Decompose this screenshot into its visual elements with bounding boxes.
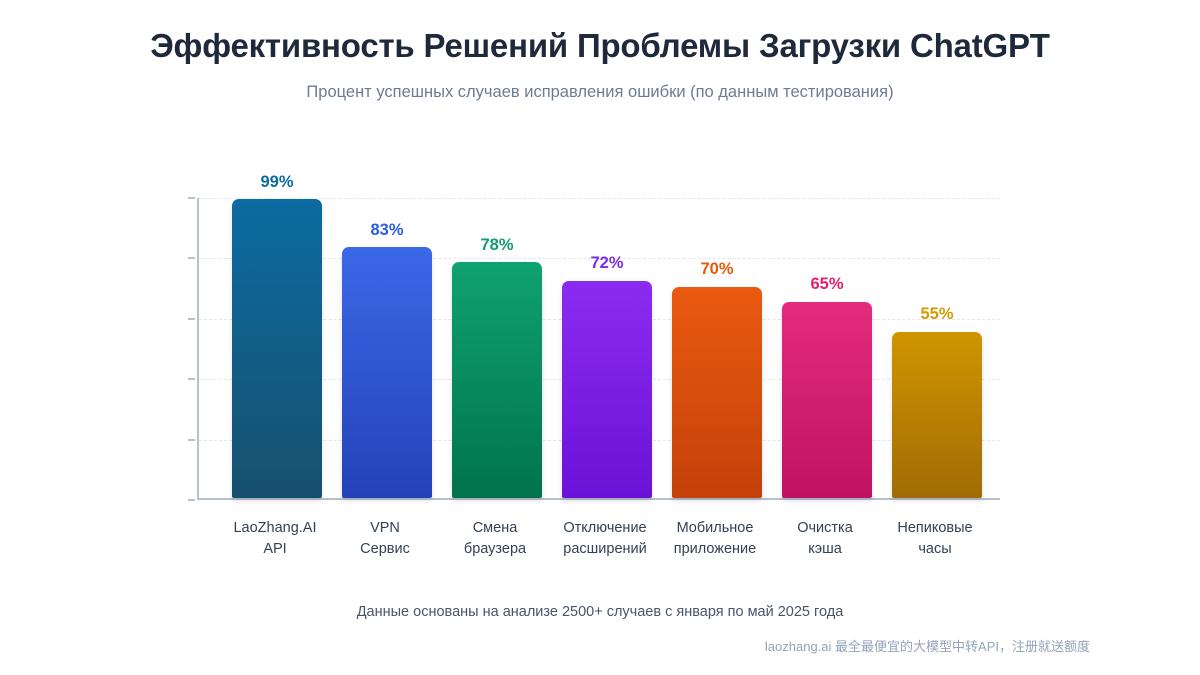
y-axis-tick-mark	[188, 439, 195, 441]
y-axis-tick-mark	[188, 257, 195, 259]
bar-slot: 70%	[672, 196, 762, 498]
x-axis-label-line: Непиковые	[890, 518, 980, 539]
bar-value-label: 65%	[810, 276, 843, 293]
x-axis-label-line: VPN	[340, 518, 430, 539]
watermark: laozhang.ai 最全最便宜的大模型中转API，注册就送额度	[765, 636, 1090, 655]
chart-subtitle: Процент успешных случаев исправления оши…	[0, 82, 1200, 103]
x-axis-label: VPNСервис	[340, 518, 430, 560]
bar[interactable]: 55%	[892, 332, 982, 498]
x-axis-label-line: Смена	[450, 518, 540, 539]
chart-plot-wrapper: 99%83%78%72%70%65%55% 100%80%60%40%20%0%…	[0, 150, 1200, 570]
bar[interactable]: 70%	[672, 287, 762, 498]
plot-area: 99%83%78%72%70%65%55%	[197, 198, 1000, 500]
x-axis-label-line: приложение	[670, 539, 760, 560]
bar[interactable]: 83%	[342, 247, 432, 498]
bar[interactable]: 99%	[232, 199, 322, 498]
y-axis-tick-mark	[188, 499, 195, 501]
bar-slot: 99%	[232, 196, 322, 498]
x-axis-label: Отключениерасширений	[560, 518, 650, 560]
y-axis-tick-mark	[188, 197, 195, 199]
bar[interactable]: 72%	[562, 281, 652, 498]
bar-value-label: 83%	[370, 222, 403, 239]
y-axis-tick-mark	[188, 318, 195, 320]
page-title: Эффективность Решений Проблемы Загрузки …	[0, 26, 1200, 66]
footnote: Данные основаны на анализе 2500+ случаев…	[0, 604, 1200, 620]
bar-series: 99%83%78%72%70%65%55%	[232, 196, 984, 498]
bar[interactable]: 65%	[782, 302, 872, 498]
x-axis-label-line: браузера	[450, 539, 540, 560]
bar-value-label: 78%	[480, 237, 513, 254]
x-axis-label-line: Отключение	[560, 518, 650, 539]
chart-page: Эффективность Решений Проблемы Загрузки …	[0, 0, 1200, 675]
x-axis-labels: LaoZhang.AIAPIVPNСервисСменабраузераОткл…	[230, 518, 982, 560]
x-axis-label: LaoZhang.AIAPI	[230, 518, 320, 560]
bar-slot: 83%	[342, 196, 432, 498]
x-axis-label-line: Мобильное	[670, 518, 760, 539]
x-axis-label-line: Очистка	[780, 518, 870, 539]
bar-value-label: 55%	[920, 306, 953, 323]
bar-slot: 78%	[452, 196, 542, 498]
bar-slot: 65%	[782, 196, 872, 498]
x-axis-label-line: расширений	[560, 539, 650, 560]
x-axis-label: Мобильноеприложение	[670, 518, 760, 560]
x-axis-label-line: Сервис	[340, 539, 430, 560]
bar[interactable]: 78%	[452, 262, 542, 498]
bar-slot: 55%	[892, 196, 982, 498]
chart-header: Эффективность Решений Проблемы Загрузки …	[0, 0, 1200, 103]
bar-slot: 72%	[562, 196, 652, 498]
x-axis-label-line: кэша	[780, 539, 870, 560]
x-axis-label-line: LaoZhang.AI	[230, 518, 320, 539]
x-axis-label: Очисткакэша	[780, 518, 870, 560]
y-axis-tick-mark	[188, 378, 195, 380]
x-axis-label-line: часы	[890, 539, 980, 560]
x-axis-label: Сменабраузера	[450, 518, 540, 560]
x-axis-label: Непиковыечасы	[890, 518, 980, 560]
bar-value-label: 72%	[590, 255, 623, 272]
bar-value-label: 99%	[260, 174, 293, 191]
bar-value-label: 70%	[700, 261, 733, 278]
x-axis-label-line: API	[230, 539, 320, 560]
